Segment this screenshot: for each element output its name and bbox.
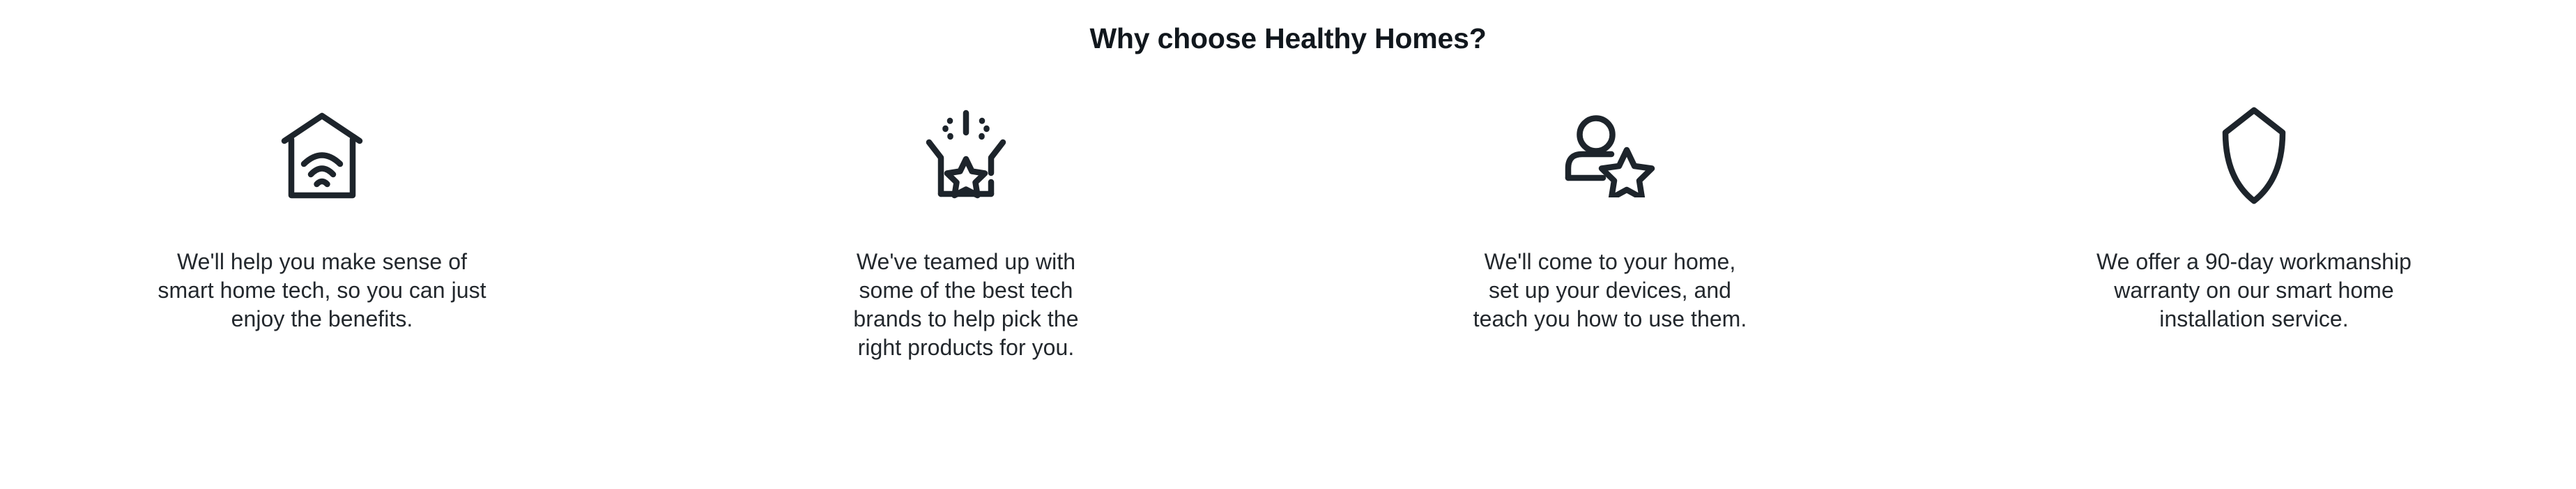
house-wifi-icon — [277, 105, 367, 206]
feature-line: We'll help you make sense of — [78, 248, 566, 276]
feature-line: teach you how to use them. — [1366, 305, 1854, 333]
feature-item-2: We've teamed up with some of the best te… — [644, 105, 1288, 362]
open-box-star-icon — [922, 105, 1010, 206]
feature-line: installation service. — [2010, 305, 2498, 333]
person-star-icon — [1563, 105, 1657, 206]
page-title: Why choose Healthy Homes? — [0, 21, 2576, 56]
feature-description-1: We'll help you make sense of smart home … — [78, 248, 566, 333]
feature-item-1: We'll help you make sense of smart home … — [0, 105, 644, 333]
feature-line: some of the best tech — [722, 276, 1210, 305]
feature-item-3: We'll come to your home, set up your dev… — [1288, 105, 1932, 333]
feature-item-4: We offer a 90-day workmanship warranty o… — [1932, 105, 2576, 333]
shield-icon — [2221, 105, 2287, 206]
feature-description-4: We offer a 90-day workmanship warranty o… — [2010, 248, 2498, 333]
feature-line: We offer a 90-day workmanship — [2010, 248, 2498, 276]
feature-line: We'll come to your home, — [1366, 248, 1854, 276]
feature-line: right products for you. — [722, 333, 1210, 362]
feature-line: We've teamed up with — [722, 248, 1210, 276]
feature-line: brands to help pick the — [722, 305, 1210, 333]
feature-description-2: We've teamed up with some of the best te… — [722, 248, 1210, 362]
feature-line: set up your devices, and — [1366, 276, 1854, 305]
feature-description-3: We'll come to your home, set up your dev… — [1366, 248, 1854, 333]
why-choose-section: Why choose Healthy Homes? We'll help you… — [0, 0, 2576, 489]
feature-line: enjoy the benefits. — [78, 305, 566, 333]
feature-columns: We'll help you make sense of smart home … — [0, 105, 2576, 362]
feature-line: warranty on our smart home — [2010, 276, 2498, 305]
feature-line: smart home tech, so you can just — [78, 276, 566, 305]
